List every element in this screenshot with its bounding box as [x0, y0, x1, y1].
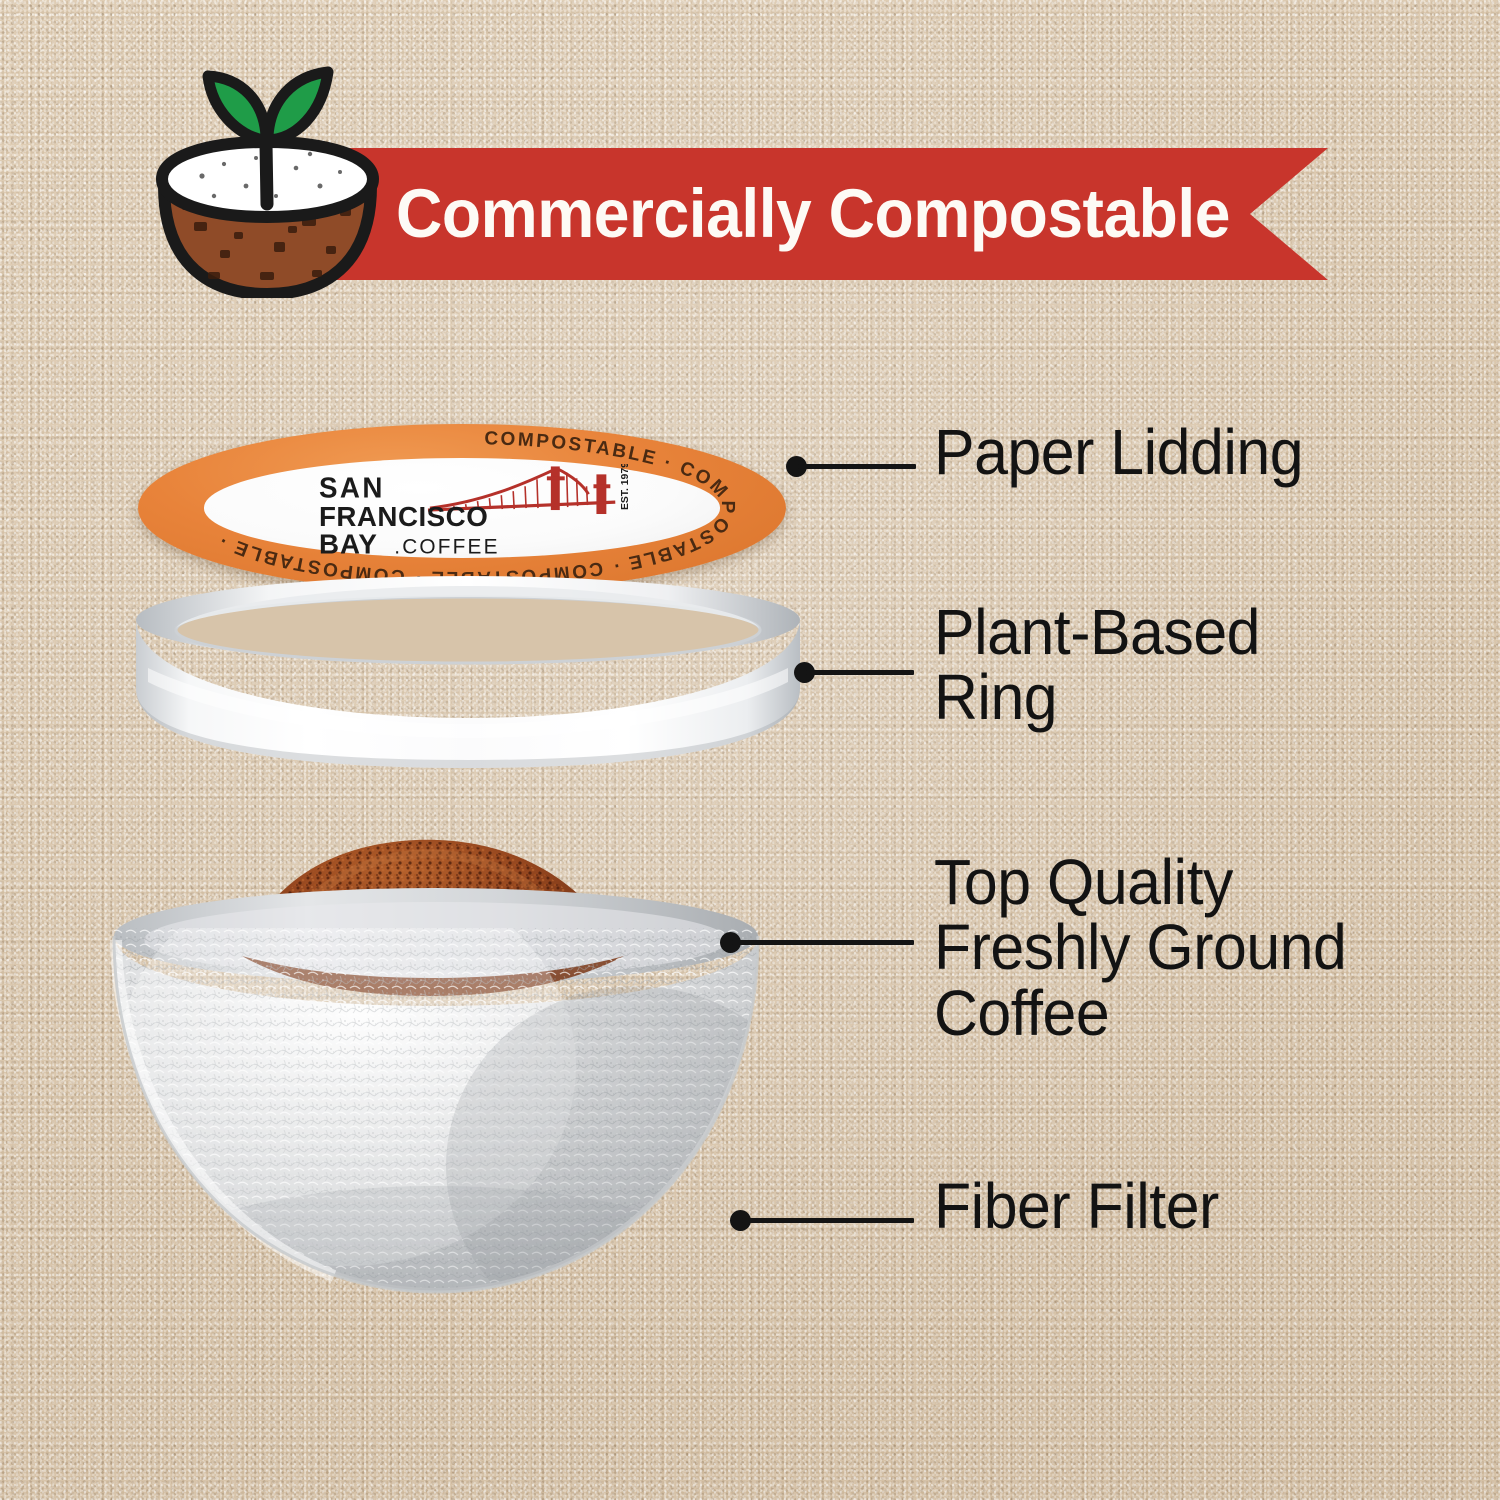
callout-line-coffee: [732, 940, 914, 945]
callout-fiber-filter: Fiber Filter: [730, 1184, 1430, 1304]
logo-established-text: EST. 1979: [620, 464, 631, 510]
logo-line-bay: BAY: [319, 529, 378, 558]
callout-paper-lidding: Paper Lidding: [786, 430, 1486, 550]
logo-line-francisco: FRANCISCO: [319, 501, 488, 532]
logo-line-san: SAN: [319, 471, 385, 504]
fiber-filter-with-coffee: [96, 836, 776, 1336]
compostable-banner: Commercially Compostable: [288, 148, 1328, 280]
infographic-canvas: Commercially Compostable: [0, 0, 1500, 1500]
callout-plant-based-ring: Plant-Based Ring: [794, 600, 1494, 800]
banner-title: Commercially Compostable: [396, 148, 1230, 280]
callout-line-lid: [798, 464, 916, 469]
sprout-leaf-left-icon: [208, 76, 266, 140]
callout-top-quality-coffee: Top Quality Freshly Ground Coffee: [720, 850, 1480, 1110]
callout-line-ring: [806, 670, 914, 675]
callout-label-top-quality-coffee: Top Quality Freshly Ground Coffee: [934, 850, 1346, 1046]
logo-suffix-coffee: .COFFEE: [394, 536, 499, 558]
plant-based-ring-component: [128, 572, 808, 772]
callout-label-plant-based-ring: Plant-Based Ring: [934, 600, 1260, 731]
callout-line-filter: [742, 1218, 914, 1223]
callout-label-paper-lidding: Paper Lidding: [934, 420, 1303, 485]
san-francisco-bay-coffee-logo: EST. 1979 SAN FRANCISCO BAY .COFFEE: [313, 464, 650, 558]
sprout-leaf-right-icon: [268, 72, 328, 140]
sprout-stem-front-icon: [266, 144, 267, 204]
paper-lidding-component: COMPOSTABLE · COMPOSTABLE · COMPOSTABLE …: [138, 424, 786, 592]
callout-label-fiber-filter: Fiber Filter: [934, 1174, 1219, 1239]
coconut-pot-sprout-icon: [150, 36, 385, 298]
fiber-filter-bowl: [96, 866, 776, 1336]
